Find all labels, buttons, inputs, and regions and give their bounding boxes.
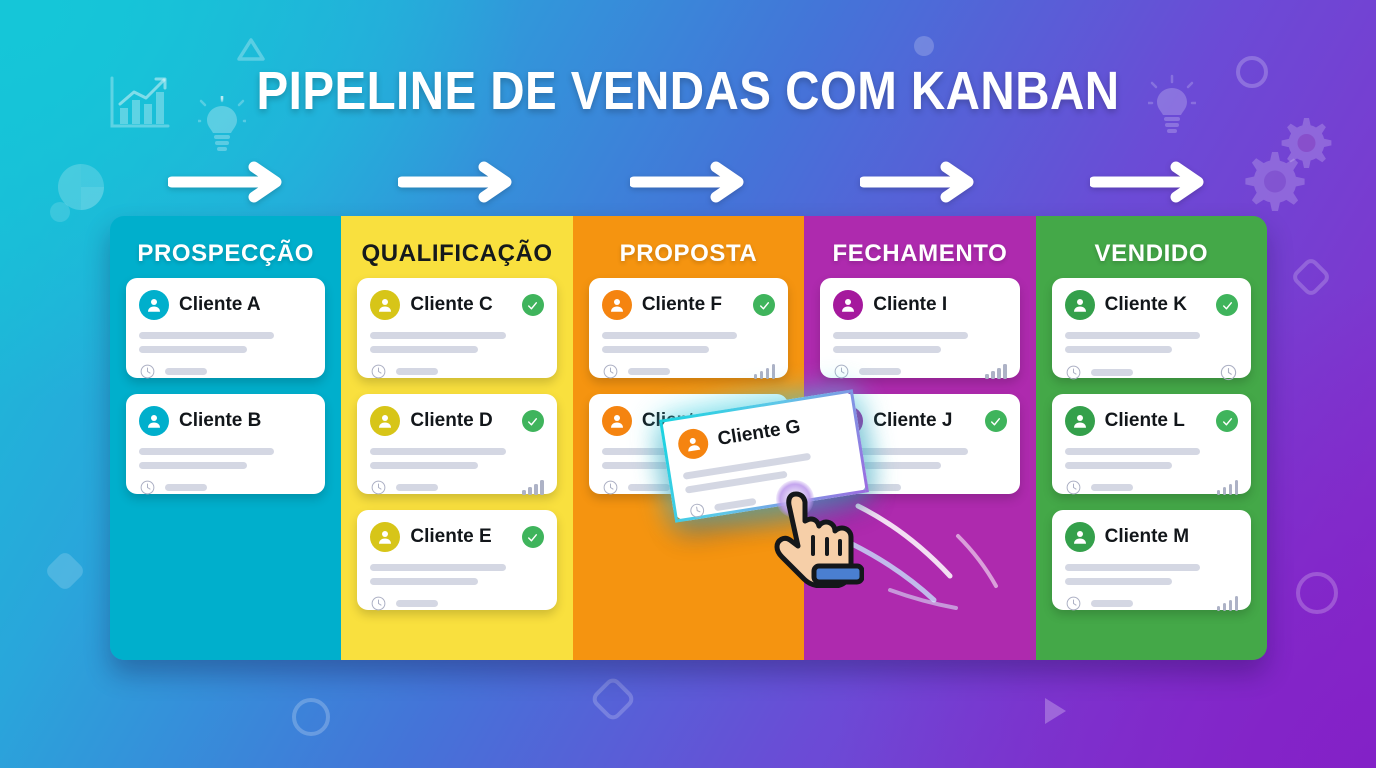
kanban-card[interactable]: Cliente B [126, 394, 325, 494]
placeholder-line [1065, 346, 1173, 353]
avatar [602, 290, 632, 320]
placeholder-line [1065, 332, 1200, 339]
check-circle-icon [985, 410, 1007, 432]
check-circle-icon [1216, 294, 1238, 316]
placeholder-line [1091, 369, 1133, 376]
arrow-right-icon [630, 160, 750, 204]
card-title: Cliente I [873, 294, 947, 316]
avatar [602, 406, 632, 436]
card-title: Cliente F [642, 294, 722, 316]
card-title: Cliente E [410, 526, 491, 548]
card-header: Cliente F [602, 289, 775, 321]
card-list: Cliente CCliente DCliente E [341, 278, 572, 610]
infographic-canvas: PIPELINE DE VENDAS COM KANBAN [0, 0, 1376, 768]
clock-icon [370, 479, 387, 496]
card-footer [139, 363, 312, 380]
avatar [833, 290, 863, 320]
card-title: Cliente A [179, 294, 261, 316]
bar-chart-small-icon [522, 480, 544, 495]
kanban-card[interactable]: Cliente F [589, 278, 788, 378]
avatar [676, 427, 710, 461]
card-footer [370, 595, 543, 612]
placeholder-line [1065, 578, 1173, 585]
card-header: Cliente L [1065, 405, 1238, 437]
card-list: Cliente KCliente LCliente M [1036, 278, 1267, 610]
clock-icon [1065, 479, 1082, 496]
clock-icon [1065, 595, 1082, 612]
placeholder-line [602, 346, 710, 353]
card-list: Cliente ACliente B [110, 278, 341, 494]
circle-outline-icon [292, 698, 330, 736]
card-footer [370, 363, 543, 380]
card-title: Cliente K [1105, 294, 1187, 316]
card-title: Cliente G [716, 416, 802, 451]
placeholder-line [139, 462, 247, 469]
placeholder-line [396, 484, 438, 491]
kanban-card[interactable]: Cliente A [126, 278, 325, 378]
clock-icon [687, 501, 706, 520]
clock-icon [139, 479, 156, 496]
placeholder-line [370, 332, 505, 339]
placeholder-line [833, 346, 941, 353]
card-footer [833, 363, 1006, 380]
clock-icon [370, 595, 387, 612]
placeholder-line [139, 346, 247, 353]
kanban-card[interactable]: Cliente E [357, 510, 556, 610]
kanban-card[interactable]: Cliente D [357, 394, 556, 494]
card-title: Cliente C [410, 294, 492, 316]
kanban-card[interactable]: Cliente C [357, 278, 556, 378]
column-title: QUALIFICAÇÃO [341, 240, 572, 268]
placeholder-line [370, 346, 478, 353]
clock-icon [139, 363, 156, 380]
placeholder-line [370, 462, 478, 469]
kanban-card[interactable]: Cliente I [820, 278, 1019, 378]
card-title: Cliente B [179, 410, 261, 432]
clock-icon [602, 479, 619, 496]
avatar [370, 406, 400, 436]
card-title: Cliente M [1105, 526, 1189, 548]
arrow-right-icon [860, 160, 980, 204]
avatar [1065, 290, 1095, 320]
placeholder-line [833, 332, 968, 339]
arrow-right-icon [1090, 160, 1210, 204]
check-circle-icon [522, 526, 544, 548]
placeholder-line [370, 578, 478, 585]
kanban-column-vendido: VENDIDOCliente KCliente LCliente M [1036, 216, 1267, 660]
placeholder-line [165, 484, 207, 491]
card-title: Cliente J [873, 410, 952, 432]
bar-chart-small-icon [985, 364, 1007, 379]
avatar [1065, 522, 1095, 552]
column-title: PROSPECÇÃO [110, 240, 341, 268]
user-icon [683, 434, 704, 455]
card-footer [1065, 479, 1238, 496]
placeholder-line [628, 368, 670, 375]
kanban-card[interactable]: Cliente K [1052, 278, 1251, 378]
triangle-outline-icon [236, 36, 266, 64]
card-header: Cliente E [370, 521, 543, 553]
arrow-row [0, 160, 1376, 204]
column-title: PROPOSTA [573, 240, 804, 268]
placeholder-line [859, 368, 901, 375]
placeholder-line [370, 564, 505, 571]
placeholder-line [628, 484, 670, 491]
diamond-icon [1290, 256, 1332, 298]
play-triangle-icon [1042, 696, 1068, 726]
kanban-card[interactable]: Cliente M [1052, 510, 1251, 610]
card-header: Cliente K [1065, 289, 1238, 321]
check-circle-icon [1216, 410, 1238, 432]
arrow-right-icon [168, 160, 288, 204]
card-header: Cliente D [370, 405, 543, 437]
placeholder-line [1091, 484, 1133, 491]
avatar [370, 522, 400, 552]
card-header: Cliente C [370, 289, 543, 321]
hand-pointer-icon [772, 488, 864, 588]
clock-icon [370, 363, 387, 380]
placeholder-line [1065, 448, 1200, 455]
card-title: Cliente D [410, 410, 492, 432]
kanban-card[interactable]: Cliente L [1052, 394, 1251, 494]
bar-chart-small-icon [1217, 596, 1239, 611]
placeholder-line [714, 498, 757, 511]
card-footer [139, 479, 312, 496]
placeholder-line [396, 368, 438, 375]
bar-chart-small-icon [754, 364, 776, 379]
card-header: Cliente I [833, 289, 1006, 321]
clock-icon [833, 363, 850, 380]
placeholder-line [396, 600, 438, 607]
avatar [139, 406, 169, 436]
avatar [1065, 406, 1095, 436]
avatar [370, 290, 400, 320]
placeholder-line [139, 448, 274, 455]
diamond-icon [44, 550, 86, 592]
placeholder-line [1065, 564, 1200, 571]
placeholder-line [165, 368, 207, 375]
card-footer [1065, 363, 1238, 382]
card-title: Cliente L [1105, 410, 1185, 432]
placeholder-line [370, 448, 505, 455]
page-title: PIPELINE DE VENDAS COM KANBAN [83, 64, 1294, 118]
check-circle-icon [522, 294, 544, 316]
dot-icon [50, 202, 70, 222]
placeholder-line [1065, 462, 1173, 469]
card-header: Cliente M [1065, 521, 1238, 553]
card-header: Cliente B [139, 405, 312, 437]
card-footer [370, 479, 543, 496]
clock-icon [1219, 363, 1238, 382]
arrow-right-icon [398, 160, 518, 204]
column-title: FECHAMENTO [804, 240, 1035, 268]
kanban-column-qualificacao: QUALIFICAÇÃOCliente CCliente DCliente E [341, 216, 572, 660]
bar-chart-small-icon [1217, 480, 1239, 495]
placeholder-line [139, 332, 274, 339]
column-title: VENDIDO [1036, 240, 1267, 268]
placeholder-line [602, 332, 737, 339]
card-header: Cliente G [676, 404, 845, 462]
check-circle-icon [522, 410, 544, 432]
check-circle-icon [753, 294, 775, 316]
card-footer [602, 363, 775, 380]
clock-icon [602, 363, 619, 380]
diamond-icon [589, 675, 637, 723]
circle-outline-icon [1296, 572, 1338, 614]
card-header: Cliente A [139, 289, 312, 321]
clock-icon [1065, 364, 1082, 381]
card-footer [1065, 595, 1238, 612]
dot-icon [914, 36, 934, 56]
kanban-column-prospeccao: PROSPECÇÃOCliente ACliente B [110, 216, 341, 660]
placeholder-line [1091, 600, 1133, 607]
avatar [139, 290, 169, 320]
